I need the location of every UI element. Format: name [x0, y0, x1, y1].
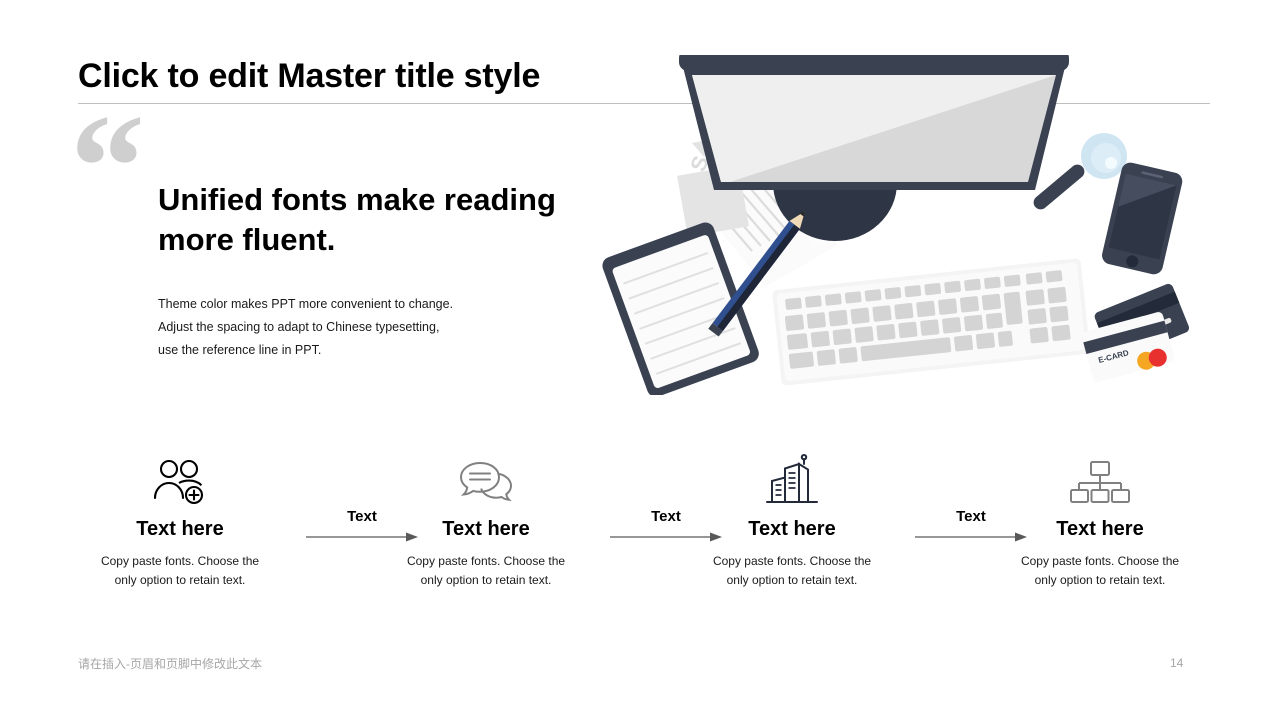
- desc-line-2: only option to retain text.: [115, 573, 246, 587]
- desc-line-1: Copy paste fonts. Choose the: [101, 554, 259, 568]
- desc-line-1: Copy paste fonts. Choose the: [713, 554, 871, 568]
- process-step-4-title: Text here: [980, 518, 1220, 541]
- desc-line-1: Copy paste fonts. Choose the: [407, 554, 565, 568]
- slide-canvas: Click to edit Master title style “ Unifi…: [0, 0, 1280, 720]
- desc-line-2: only option to retain text.: [421, 573, 552, 587]
- body-line-2: Adjust the spacing to adapt to Chinese t…: [158, 316, 558, 339]
- process-step-3-title: Text here: [672, 518, 912, 541]
- org-chart-icon: [980, 450, 1220, 506]
- process-step-4[interactable]: Text here Copy paste fonts. Choose the o…: [980, 450, 1220, 590]
- smartphone-icon: [1100, 161, 1184, 276]
- process-step-1-title: Text here: [60, 518, 300, 541]
- process-step-3-desc: Copy paste fonts. Choose the only option…: [672, 552, 912, 590]
- speech-bubbles-icon: [366, 450, 606, 506]
- keyboard-group: [772, 258, 1090, 386]
- process-step-4-desc: Copy paste fonts. Choose the only option…: [980, 552, 1220, 590]
- process-step-1[interactable]: Text here Copy paste fonts. Choose the o…: [60, 450, 300, 590]
- desc-line-2: only option to retain text.: [727, 573, 858, 587]
- credit-cards-icon: E-CARD: [1081, 282, 1191, 384]
- add-users-icon: [60, 450, 300, 506]
- desc-line-1: Copy paste fonts. Choose the: [1021, 554, 1179, 568]
- body-line-1: Theme color makes PPT more convenient to…: [158, 293, 558, 316]
- process-step-2-title: Text here: [366, 518, 606, 541]
- quote-mark-icon: “: [70, 92, 145, 242]
- city-buildings-icon: [672, 450, 912, 506]
- body-paragraph[interactable]: Theme color makes PPT more convenient to…: [158, 293, 558, 362]
- coffee-cup-icon: [1081, 133, 1127, 179]
- process-step-1-desc: Copy paste fonts. Choose the only option…: [60, 552, 300, 590]
- process-step-2[interactable]: Text here Copy paste fonts. Choose the o…: [366, 450, 606, 590]
- process-step-3[interactable]: Text here Copy paste fonts. Choose the o…: [672, 450, 912, 590]
- headline-text[interactable]: Unified fonts make reading more fluent.: [158, 180, 558, 259]
- page-number: 14: [1170, 656, 1183, 670]
- desc-line-2: only option to retain text.: [1035, 573, 1166, 587]
- desk-workspace-illustration: S: [580, 55, 1220, 395]
- footer-placeholder-text[interactable]: 请在插入-页眉和页脚中修改此文本: [78, 655, 262, 672]
- process-step-2-desc: Copy paste fonts. Choose the only option…: [366, 552, 606, 590]
- page-title[interactable]: Click to edit Master title style: [78, 57, 540, 96]
- body-line-3: use the reference line in PPT.: [158, 339, 558, 362]
- process-row: Text here Copy paste fonts. Choose the o…: [60, 450, 1220, 620]
